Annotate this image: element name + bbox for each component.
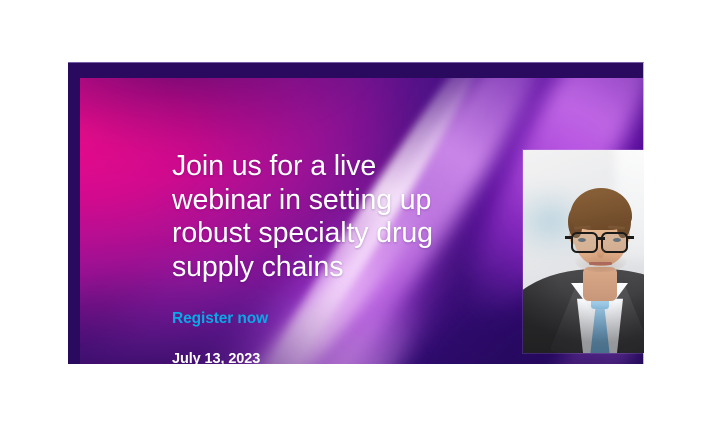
glasses-lens-right: [601, 232, 628, 253]
portrait-mouth: [589, 262, 612, 265]
webinar-promo-banner: Join us for a live webinar in setting up…: [68, 62, 644, 364]
portrait-nose: [597, 246, 604, 258]
glasses-temple-left: [565, 236, 572, 239]
speaker-portrait-photo: [523, 150, 644, 353]
glasses-icon: [571, 232, 598, 253]
register-now-link[interactable]: Register now: [172, 310, 512, 328]
banner-text-column: Join us for a live webinar in setting up…: [172, 150, 512, 364]
event-datetime: July 13, 2023 4:00pm CEST: [172, 350, 512, 364]
banner-headline: Join us for a live webinar in setting up…: [172, 150, 512, 284]
glasses-bridge: [596, 237, 605, 240]
glasses-temple-right: [627, 236, 634, 239]
portrait-suit-shadow: [523, 269, 644, 353]
